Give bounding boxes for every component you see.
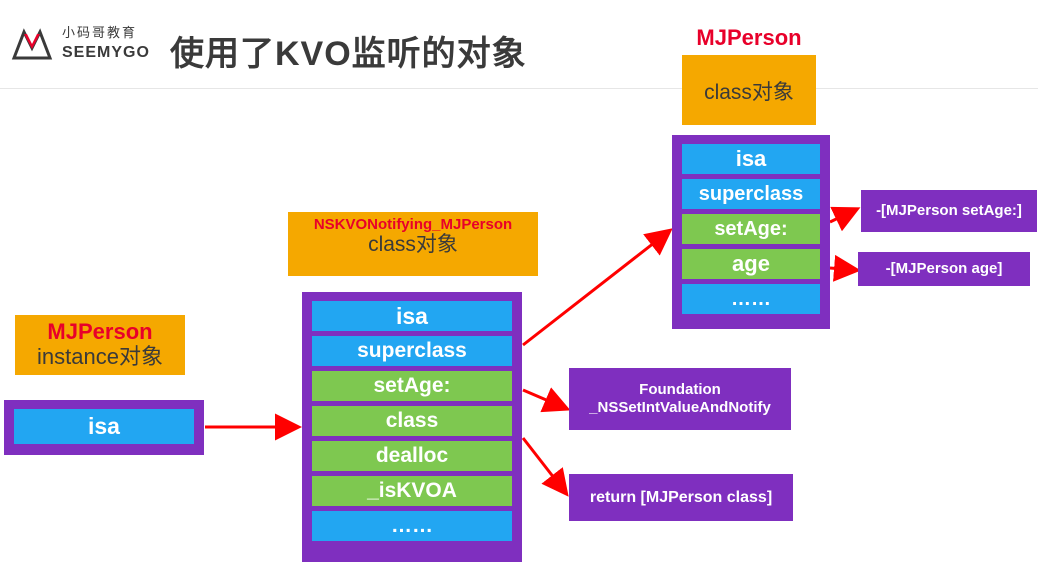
person-row-setage: setAge: [682, 214, 820, 244]
person-class-label-line1: MJPerson [682, 25, 816, 50]
person-row-superclass: superclass [682, 179, 820, 209]
instance-label-line2: instance对象 [15, 344, 185, 369]
person-row-dots: …… [682, 284, 820, 314]
kvo-row-setage: setAge: [312, 371, 512, 401]
m-mountain-logo-icon [10, 22, 54, 66]
instance-label-line1: MJPerson [15, 319, 185, 344]
slide-header: 小码哥教育 SEEMYGO 使用了KVO监听的对象 [0, 0, 1038, 89]
person-row-age: age [682, 249, 820, 279]
brand-logo: 小码哥教育 SEEMYGO [10, 20, 160, 68]
kvo-subclass-label-box: NSKVONotifying_MJPerson class对象 [288, 212, 538, 276]
note-foundation: Foundation _NSSetIntValueAndNotify [569, 368, 791, 430]
page-title: 使用了KVO监听的对象 [170, 26, 527, 75]
note-setage-imp: -[MJPerson setAge:] [861, 190, 1037, 232]
person-class-label-line2: class对象 [682, 81, 816, 105]
kvo-subclass-label-line1: NSKVONotifying_MJPerson [288, 216, 538, 233]
kvo-subclass-label-line2: class对象 [288, 233, 538, 257]
instance-object-box: isa [4, 400, 204, 455]
kvo-row-dealloc: dealloc [312, 441, 512, 471]
person-class-object-box: isa superclass setAge: age …… [672, 135, 830, 329]
person-class-label-box: MJPerson class对象 [682, 55, 816, 125]
kvo-row-isa: isa [312, 301, 512, 331]
note-age-imp: -[MJPerson age] [858, 252, 1030, 286]
arrow-superclass-to-personclass [523, 232, 668, 345]
kvo-row-superclass: superclass [312, 336, 512, 366]
logo-text-en: SEEMYGO [62, 44, 150, 62]
note-return-class: return [MJPerson class] [569, 474, 793, 521]
person-row-isa: isa [682, 144, 820, 174]
kvo-row-class: class [312, 406, 512, 436]
kvo-row-iskvoa: _isKVOA [312, 476, 512, 506]
kvo-row-dots: …… [312, 511, 512, 541]
arrow-personsetage-to-imp [830, 210, 855, 222]
slide-canvas: 小码哥教育 SEEMYGO 使用了KVO监听的对象 MJPerson insta… [0, 0, 1038, 578]
arrow-class-to-return [523, 438, 565, 492]
instance-label-box: MJPerson instance对象 [15, 315, 185, 375]
arrow-setage-to-foundation [523, 390, 565, 408]
logo-text-cn: 小码哥教育 [62, 22, 137, 41]
instance-row-isa: isa [14, 409, 194, 444]
arrow-personage-to-imp [830, 268, 855, 270]
kvo-subclass-object-box: isa superclass setAge: class dealloc _is… [302, 292, 522, 562]
